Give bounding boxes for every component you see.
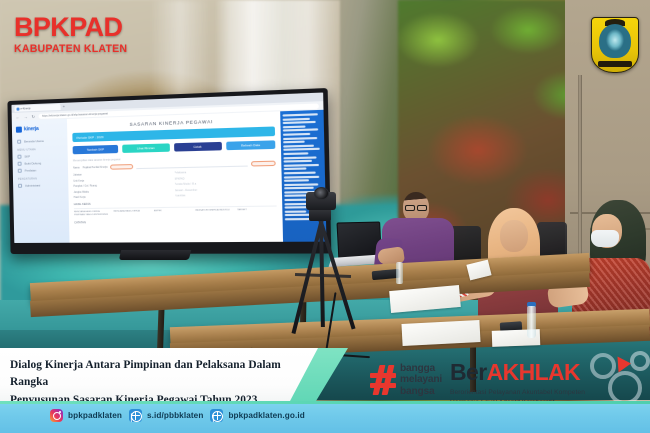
instagram-handle[interactable]: bpkpadklaten (50, 409, 122, 422)
view-detail-button[interactable]: Lihat Rincian (122, 143, 169, 153)
klaten-regency-emblem-icon (591, 17, 639, 73)
globe-icon (129, 409, 142, 422)
org-subtitle: KABUPATEN KLATEN (14, 43, 127, 55)
water-bottle-small (396, 262, 403, 284)
shortlink-handle[interactable]: s.id/pbbklaten (129, 409, 203, 422)
sidebar-item-skp[interactable]: SKP (17, 154, 63, 159)
sidebar-item-label: Penilaian (25, 168, 37, 172)
status-badge (111, 164, 134, 170)
filter-value: Pejabat Penilai Kinerja (83, 166, 108, 170)
kinerja-app: kinerja Beranda Utama MENU UTAMA SKP Buk… (12, 110, 327, 243)
bangga-line-2: melayani (400, 374, 442, 385)
instagram-icon (50, 409, 63, 422)
paper-sheet (401, 320, 480, 346)
row-value: Pelaksana (174, 169, 276, 174)
ring-icon (590, 353, 616, 379)
berakhlak-main: AKHLAK (487, 359, 581, 385)
reload-icon[interactable]: ↻ (32, 113, 36, 118)
arrow-icon (617, 356, 631, 373)
handle-label: bpkpadklaten (68, 411, 122, 420)
tagline-line-1: Berorientasi Pelayanan Akuntabel Kompete… (450, 388, 585, 398)
filter-input[interactable] (137, 161, 248, 169)
browser-tab-title: e-Kinerja (20, 107, 30, 110)
column-header: RENCANA HASIL KERJA PIMPINAN YANG DIINTE… (74, 211, 111, 217)
website-handle[interactable]: bpkpadklaten.go.id (210, 409, 304, 422)
eyeglasses-right-icon (417, 205, 427, 211)
table-header-row: RENCANA HASIL KERJA PIMPINAN YANG DIINTE… (74, 206, 277, 218)
berakhlak-wordmark: BerAKHLAK (450, 361, 580, 384)
screenshot-root: e-Kinerja + ← → ↻ https://ekinerja.klate… (0, 0, 650, 433)
sidebar-item-label: Bukti Dukung (25, 161, 42, 165)
sidebar-group-label-2: PENGATURAN (18, 177, 64, 181)
camera-lens-icon (314, 187, 329, 200)
bangga-melayani-bangsa-logo: bangga melayani bangsa (370, 363, 442, 397)
back-arrow-icon[interactable]: ← (16, 114, 21, 119)
footer-bar: bpkpadklaten s.id/pbbklaten bpkpadklaten… (0, 401, 650, 433)
app-main-content: SASARAN KINERJA PEGAWAI Periode SKP : 20… (67, 111, 283, 243)
catatan-label: CATATAN (74, 220, 277, 225)
row-value: Januari - Desember (174, 187, 276, 192)
hashtag-icon (370, 365, 396, 395)
handle-label: bpkpadklaten.go.id (228, 411, 304, 420)
bangga-text: bangga melayani bangsa (400, 363, 442, 397)
row-label: Jangka Waktu (74, 189, 171, 194)
gear-icon (18, 184, 22, 188)
emblem-banner (598, 61, 632, 67)
print-button[interactable]: Cetak (174, 142, 222, 152)
water-bottle (527, 306, 536, 338)
star-icon (18, 169, 22, 173)
app-brand: kinerja (16, 125, 63, 133)
sidebar-item-dashboard[interactable]: Beranda Utama (17, 138, 63, 143)
caption-banner: Dialog Kinerja Antara Pimpinan dan Pelak… (0, 348, 390, 401)
org-name: BPKPAD (14, 14, 127, 41)
period-alert-banner: Periode SKP : 2023 (72, 126, 275, 142)
row-label: Hasil Kerja (74, 195, 171, 200)
brand-name: kinerja (24, 126, 39, 133)
forward-arrow-icon[interactable]: → (24, 114, 29, 119)
status-badge-2 (251, 161, 276, 167)
social-handles: bpkpadklaten s.id/pbbklaten bpkpadklaten… (50, 409, 305, 422)
woman-1-face (500, 220, 528, 252)
sidebar-item-bukti-dukung[interactable]: Bukti Dukung (18, 161, 64, 166)
handle-label: s.id/pbbklaten (147, 411, 203, 420)
row-value: BPKPAD (174, 175, 276, 180)
display-stand (119, 250, 191, 260)
caption-line-1: Dialog Kinerja Antara Pimpinan dan Pelak… (10, 357, 300, 392)
sidebar-item-administrasi[interactable]: Administrasi (18, 183, 64, 188)
folder-icon (18, 162, 22, 166)
berakhlak-prefix: Ber (450, 359, 487, 385)
ring-icon (608, 371, 642, 405)
add-skp-button[interactable]: Tambah SKP (73, 145, 119, 154)
eyeglasses-left-icon (405, 205, 415, 211)
video-camera-on-tripod (281, 186, 365, 346)
row-label: Jabatan (73, 171, 170, 176)
row-value: Penata Muda / III.a (174, 181, 276, 186)
bangga-line-1: bangga (400, 363, 435, 374)
emblem-center (599, 24, 631, 58)
column-header: TARGET (237, 209, 277, 216)
globe-icon (210, 409, 223, 422)
sidebar-item-label: Beranda Utama (24, 139, 44, 144)
sidebar-item-label: SKP (24, 154, 30, 158)
ring-icon (630, 351, 650, 371)
brand-logo-icon (16, 127, 22, 133)
filter-label: Nama (73, 166, 80, 169)
column-header: INDIKATOR KINERJA INDIVIDU (195, 210, 234, 217)
face-mask-icon (591, 230, 619, 247)
display-screen: e-Kinerja + ← → ↻ https://ekinerja.klate… (11, 93, 326, 243)
document-icon (17, 155, 21, 159)
column-header: ASPEK (154, 210, 192, 217)
column-header: RENCANA HASIL KERJA (114, 211, 151, 218)
sidebar-item-penilaian[interactable]: Penilaian (18, 168, 64, 173)
new-tab-button[interactable]: + (63, 104, 66, 110)
row-label: Pangkat / Gol. Ruang (73, 183, 170, 188)
row-label: Unit Kerja (73, 177, 170, 182)
app-sidebar: kinerja Beranda Utama MENU UTAMA SKP Buk… (12, 119, 70, 243)
org-title-block: BPKPAD KABUPATEN KLATEN (14, 14, 127, 55)
tripod-head (309, 209, 331, 221)
table-row: Hasil Kerja Kuantitas (74, 193, 277, 199)
refresh-button[interactable]: Refresh Data (226, 140, 275, 150)
row-value: Kuantitas (175, 193, 277, 198)
footer-accent-stripe (0, 401, 650, 404)
favicon-icon (16, 107, 19, 110)
sidebar-item-label: Administrasi (25, 183, 40, 187)
bangga-line-3: bangsa (400, 386, 434, 397)
sidebar-group-label: MENU UTAMA (17, 147, 63, 151)
home-icon (17, 140, 21, 144)
action-button-row: Tambah SKP Lihat Rincian Cetak Refresh D… (73, 140, 276, 154)
